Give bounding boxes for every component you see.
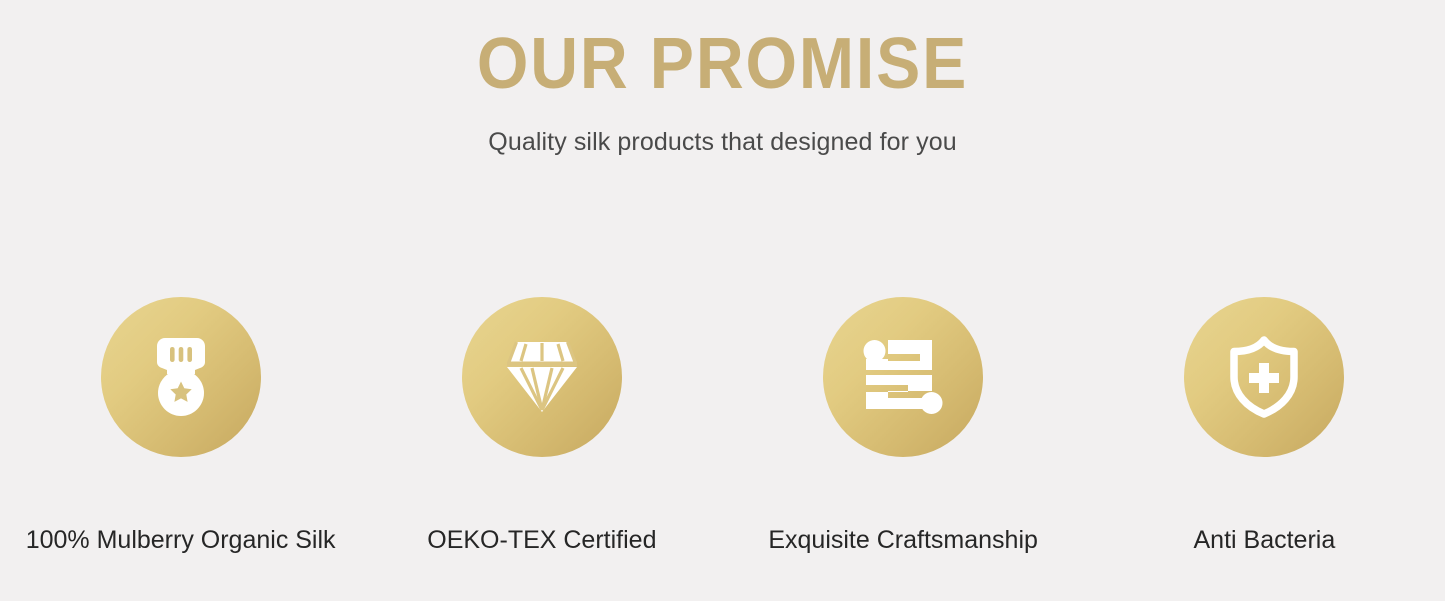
heading-block: OUR PROMISE Quality silk products that d… bbox=[0, 0, 1445, 157]
weave-craft-icon bbox=[862, 339, 944, 415]
section-subtitle: Quality silk products that designed for … bbox=[0, 100, 1445, 157]
shield-plus-icon bbox=[1225, 336, 1303, 418]
medal-icon bbox=[145, 336, 217, 418]
icon-circle-diamond bbox=[462, 297, 622, 457]
our-promise-section: OUR PROMISE Quality silk products that d… bbox=[0, 0, 1445, 601]
feature-item-oeko-tex: OEKO-TEX Certified bbox=[361, 297, 722, 555]
feature-label: Exquisite Craftsmanship bbox=[768, 526, 1038, 555]
icon-circle-medal bbox=[101, 297, 261, 457]
icon-circle-shield-plus bbox=[1184, 297, 1344, 457]
feature-label: OEKO-TEX Certified bbox=[427, 526, 656, 555]
feature-item-anti-bacteria: Anti Bacteria bbox=[1084, 297, 1445, 555]
feature-label: Anti Bacteria bbox=[1194, 526, 1336, 555]
feature-label: 100% Mulberry Organic Silk bbox=[26, 526, 336, 555]
features-row: 100% Mulberry Organic Silk bbox=[0, 297, 1445, 555]
diamond-icon bbox=[499, 340, 585, 414]
icon-circle-weave-craft bbox=[823, 297, 983, 457]
page-title: OUR PROMISE bbox=[58, 28, 1387, 100]
feature-item-mulberry-silk: 100% Mulberry Organic Silk bbox=[0, 297, 361, 555]
feature-item-craftsmanship: Exquisite Craftsmanship bbox=[723, 297, 1084, 555]
